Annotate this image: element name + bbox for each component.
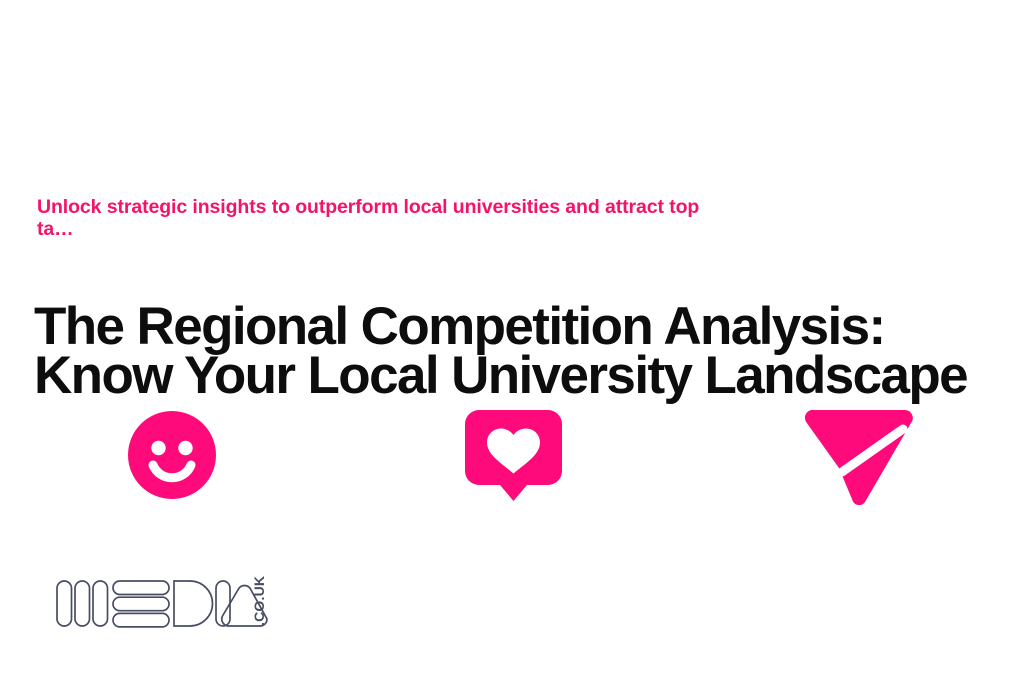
icon-slot-smiley	[82, 400, 262, 515]
media-co-uk-logo: .CO.UK	[56, 576, 271, 632]
icon-row	[0, 400, 1024, 515]
slide-canvas: Unlock strategic insights to outperform …	[0, 0, 1024, 683]
logo-suffix-text: .CO.UK	[251, 576, 267, 626]
paper-plane-send-icon	[803, 410, 913, 505]
smiley-face-icon	[128, 411, 216, 499]
heart-comment-bubble-icon	[465, 410, 562, 502]
icon-slot-heart-bubble	[423, 400, 603, 515]
eyebrow-text: Unlock strategic insights to outperform …	[37, 197, 717, 240]
icon-slot-paper-plane	[767, 400, 947, 515]
page-title: The Regional Competition Analysis: Know …	[34, 302, 974, 400]
